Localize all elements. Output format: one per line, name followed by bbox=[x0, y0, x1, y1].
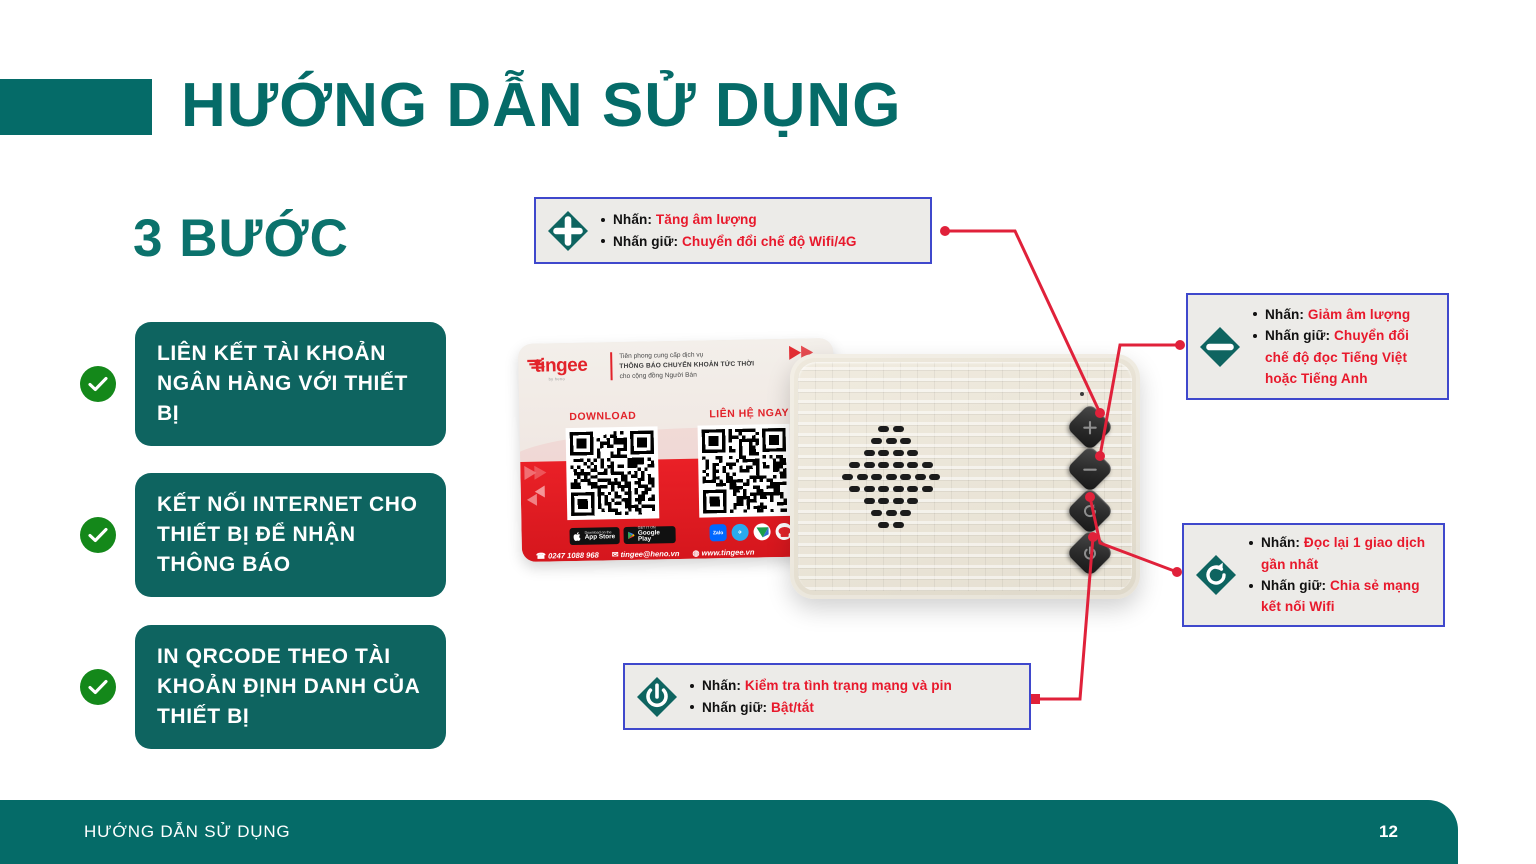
callout-power-list: Nhấn: Kiểm tra tình trạng mạng và pin Nh… bbox=[688, 675, 952, 718]
callout-label: Nhấn: bbox=[702, 678, 741, 693]
callout-volume-down: Nhấn: Giảm âm lượng Nhấn giữ: Chuyển đổi… bbox=[1186, 293, 1449, 400]
callout-replay: Nhấn: Đọc lại 1 giao dịch gần nhất Nhấn … bbox=[1182, 523, 1445, 627]
qr-code-download bbox=[566, 426, 660, 520]
title-accent-block bbox=[0, 79, 152, 135]
phone-icon: ☎ bbox=[536, 552, 546, 561]
tingee-logo-sub: by heno bbox=[549, 376, 565, 381]
google-play-icon bbox=[628, 531, 635, 540]
callout-label: Nhấn giữ: bbox=[613, 234, 678, 249]
callout-line: Nhấn giữ: Bật/tắt bbox=[688, 697, 952, 718]
callout-line: Nhấn giữ: Chuyển đổi chế độ Wifi/4G bbox=[599, 231, 857, 252]
phone-value: 0247 1088 968 bbox=[548, 551, 599, 561]
power-diamond-icon bbox=[635, 675, 679, 719]
reload-diamond-icon bbox=[1194, 553, 1238, 597]
tingee-logo: tingee bbox=[534, 355, 587, 378]
callout-label: Nhấn giữ: bbox=[1261, 578, 1326, 593]
callout-value: Kiểm tra tình trạng mạng và pin bbox=[745, 678, 952, 693]
reload-icon bbox=[1082, 503, 1098, 519]
google-play-badge: GET IT ON Google Play bbox=[623, 526, 675, 544]
arrow-decoration-bottom-left bbox=[522, 463, 559, 508]
app-store-badge: Download on the App Store bbox=[569, 527, 619, 545]
qr-label-download: DOWNLOAD bbox=[569, 410, 636, 423]
callout-label: Nhấn: bbox=[1261, 535, 1300, 550]
callout-value: Chuyển đổi chế độ Wifi/4G bbox=[682, 234, 857, 249]
page-title: HƯỚNG DẪN SỬ DỤNG bbox=[181, 70, 901, 141]
email-contact: ✉ tingee@heno.vn bbox=[612, 549, 680, 559]
footer-bar: HƯỚNG DẪN SỬ DỤNG 12 bbox=[0, 800, 1458, 864]
product-photo: tingee by heno Tiên phong cung cấp dịch … bbox=[505, 320, 1165, 620]
check-circle-icon bbox=[80, 517, 116, 553]
mail-icon: ✉ bbox=[612, 550, 619, 559]
google-play-big: Google Play bbox=[638, 530, 672, 543]
qr-code-contact bbox=[698, 424, 792, 518]
step-item-3: IN QRCODE THEO TÀI KHOẢN ĐỊNH DANH CỦA T… bbox=[80, 625, 446, 749]
app-store-big: App Store bbox=[585, 534, 616, 541]
page-number: 12 bbox=[1379, 822, 1398, 842]
callout-label: Nhấn: bbox=[1265, 307, 1304, 322]
callout-volume-down-list: Nhấn: Giảm âm lượng Nhấn giữ: Chuyển đổi… bbox=[1251, 304, 1435, 390]
connector-dot-plus-box bbox=[940, 226, 950, 236]
viber-icon bbox=[753, 523, 770, 540]
step-item-2: KẾT NỐI INTERNET CHO THIẾT BỊ ĐỂ NHẬN TH… bbox=[80, 473, 446, 597]
step-label-1: LIÊN KẾT TÀI KHOẢN NGÂN HÀNG VỚI THIẾT B… bbox=[135, 322, 446, 446]
speaker-grille bbox=[842, 424, 954, 536]
step-label-3: IN QRCODE THEO TÀI KHOẢN ĐỊNH DANH CỦA T… bbox=[135, 625, 446, 749]
check-circle-icon bbox=[80, 669, 116, 705]
callout-power: Nhấn: Kiểm tra tình trạng mạng và pin Nh… bbox=[623, 663, 1031, 730]
card-tagline: Tiên phong cung cấp dịch vụ THÔNG BÁO CH… bbox=[619, 350, 754, 383]
slide: HƯỚNG DẪN SỬ DỤNG 3 BƯỚC LIÊN KẾT TÀI KH… bbox=[0, 0, 1536, 864]
callout-label: Nhấn giữ: bbox=[702, 700, 767, 715]
app-store-small: Download on the bbox=[585, 531, 616, 535]
step-label-2: KẾT NỐI INTERNET CHO THIẾT BỊ ĐỂ NHẬN TH… bbox=[135, 473, 446, 597]
email-value: tingee@heno.vn bbox=[621, 549, 680, 559]
connector-dot-minus-box bbox=[1175, 340, 1185, 350]
connector-dot-reload-box bbox=[1172, 567, 1182, 577]
globe-icon: ◍ bbox=[692, 549, 699, 558]
qr-download-svg bbox=[570, 430, 656, 516]
callout-line: Nhấn: Giảm âm lượng bbox=[1251, 304, 1435, 325]
apple-icon bbox=[574, 532, 582, 541]
callout-line: Nhấn: Tăng âm lượng bbox=[599, 209, 857, 230]
website-value: www.tingee.vn bbox=[702, 548, 755, 558]
plus-diamond-icon bbox=[546, 209, 590, 253]
callout-label: Nhấn: bbox=[613, 212, 652, 227]
callout-value: Tăng âm lượng bbox=[656, 212, 757, 227]
plus-icon bbox=[1083, 420, 1098, 435]
website-contact: ◍ www.tingee.vn bbox=[692, 548, 754, 558]
power-icon bbox=[1083, 546, 1098, 561]
minus-icon bbox=[1083, 462, 1098, 477]
section-subtitle: 3 BƯỚC bbox=[133, 208, 349, 269]
callout-line: Nhấn: Kiểm tra tình trạng mạng và pin bbox=[688, 675, 952, 696]
step-item-1: LIÊN KẾT TÀI KHOẢN NGÂN HÀNG VỚI THIẾT B… bbox=[80, 322, 446, 446]
callout-value: Bật/tắt bbox=[771, 700, 814, 715]
phone-contact: ☎ 0247 1088 968 bbox=[536, 551, 599, 561]
callout-label: Nhấn giữ: bbox=[1265, 328, 1330, 343]
minus-diamond-icon bbox=[1198, 325, 1242, 369]
google-play-small: GET IT ON bbox=[638, 526, 672, 530]
callout-replay-list: Nhấn: Đọc lại 1 giao dịch gần nhất Nhấn … bbox=[1247, 532, 1431, 618]
microphone-hole bbox=[1080, 392, 1084, 396]
footer-title: HƯỚNG DẪN SỬ DỤNG bbox=[84, 822, 290, 842]
check-circle-icon bbox=[80, 366, 116, 402]
callout-volume-up: Nhấn: Tăng âm lượng Nhấn giữ: Chuyển đổi… bbox=[534, 197, 932, 264]
callout-line: Nhấn giữ: Chia sẻ mạng kết nối Wifi bbox=[1247, 575, 1431, 618]
connector-dot-power-box bbox=[1030, 694, 1040, 704]
callout-value: Giảm âm lượng bbox=[1308, 307, 1410, 322]
qr-label-contact: LIÊN HỆ NGAY bbox=[709, 407, 789, 421]
callout-line: Nhấn: Đọc lại 1 giao dịch gần nhất bbox=[1247, 532, 1431, 575]
telegram-icon: ✈ bbox=[731, 524, 748, 541]
callout-line: Nhấn giữ: Chuyển đổi chế độ đọc Tiếng Vi… bbox=[1251, 325, 1435, 389]
tingee-speaker-device bbox=[790, 354, 1140, 599]
callout-volume-up-list: Nhấn: Tăng âm lượng Nhấn giữ: Chuyển đổi… bbox=[599, 209, 857, 252]
zalo-icon: Zalo bbox=[709, 524, 726, 541]
qr-contact-svg bbox=[702, 428, 788, 514]
